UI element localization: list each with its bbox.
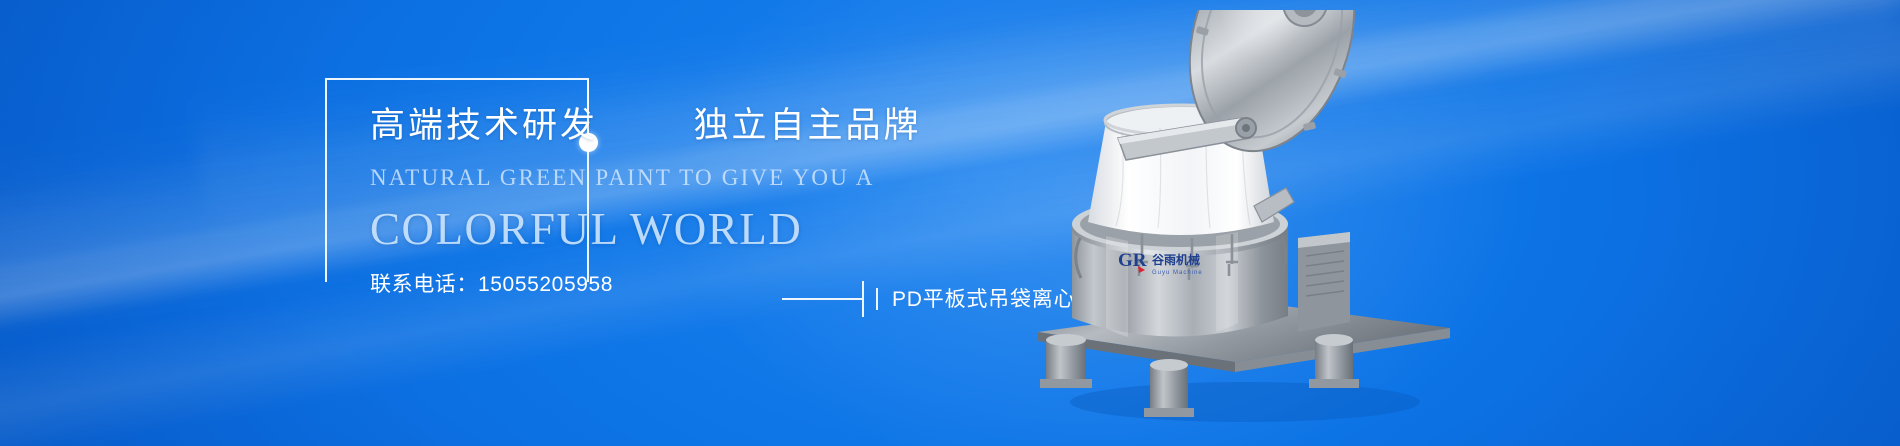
logo-mark: GR: [1118, 250, 1147, 271]
subtitle-english: NATURAL GREEN PAINT TO GIVE YOU A: [370, 166, 990, 189]
caption-tick-icon: [862, 281, 864, 317]
product-photo-centrifuge: GR 谷雨机械 Guyu Machine: [1010, 10, 1480, 440]
caption-bar-icon: [876, 288, 878, 310]
headline-row: 高端技术研发 独立自主品牌: [370, 108, 990, 143]
machine-motor-box: [1298, 232, 1350, 332]
promo-banner: 高端技术研发 独立自主品牌 NATURAL GREEN PAINT TO GIV…: [0, 0, 1900, 446]
headline-left-text: 高端技术研发: [370, 106, 598, 145]
centrifuge-illustration: GR 谷雨机械 Guyu Machine: [1010, 10, 1480, 440]
logo-cn: 谷雨机械: [1152, 252, 1200, 267]
caption-rule-icon: [782, 298, 862, 300]
headline-right-text: 独立自主品牌: [693, 106, 921, 145]
tagline-english: COLORFUL WORLD: [370, 204, 990, 254]
logo-en: Guyu Machine: [1152, 270, 1203, 276]
headline-block: 高端技术研发 独立自主品牌 NATURAL GREEN PAINT TO GIV…: [370, 108, 990, 295]
